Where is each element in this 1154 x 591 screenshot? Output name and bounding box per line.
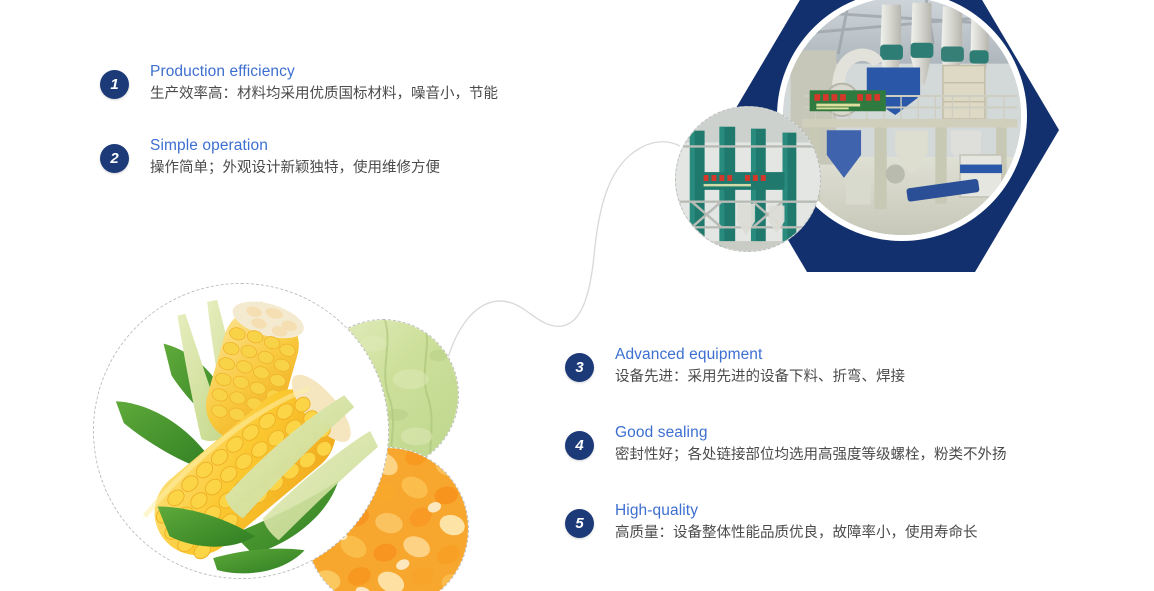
feature-badge-5: 5 [565, 509, 594, 538]
feature-list-top: 1 Production efficiency 生产效率高：材料均采用优质国标材… [100, 62, 620, 210]
feature-item-4[interactable]: 4 Good sealing 密封性好；各处链接部位均选用高强度等级螺栓，粉类不… [565, 423, 1125, 469]
feature-text-1: Production efficiency 生产效率高：材料均采用优质国标材料，… [150, 62, 498, 105]
feature-title-cn-5: 高质量：设备整体性能品质优良，故障率小，使用寿命长 [615, 523, 978, 544]
feature-title-en-3: Advanced equipment [615, 345, 905, 365]
feature-title-en-2: Simple operation [150, 136, 440, 156]
feature-badge-4: 4 [565, 431, 594, 460]
feature-title-cn-1: 生产效率高：材料均采用优质国标材料，噪音小，节能 [150, 84, 498, 105]
feature-highlight-banner: 1 Production efficiency 生产效率高：材料均采用优质国标材… [0, 0, 1154, 591]
feature-list-bottom: 3 Advanced equipment 设备先进：采用先进的设备下料、折弯、焊… [565, 345, 1125, 579]
fresh-corn-cob-illustration [94, 284, 388, 578]
fresh-corn-cob-photo [93, 283, 389, 579]
feature-badge-1: 1 [100, 70, 129, 99]
feature-title-en-4: Good sealing [615, 423, 1007, 443]
feature-text-5: High-quality 高质量：设备整体性能品质优良，故障率小，使用寿命长 [615, 501, 978, 544]
corn-processing-line-photo [675, 106, 821, 252]
feature-title-en-5: High-quality [615, 501, 978, 521]
feature-text-4: Good sealing 密封性好；各处链接部位均选用高强度等级螺栓，粉类不外扬 [615, 423, 1007, 466]
feature-title-cn-3: 设备先进：采用先进的设备下料、折弯、焊接 [615, 367, 905, 388]
feature-text-3: Advanced equipment 设备先进：采用先进的设备下料、折弯、焊接 [615, 345, 905, 388]
corn-photo-cluster [93, 283, 493, 591]
feature-item-5[interactable]: 5 High-quality 高质量：设备整体性能品质优良，故障率小，使用寿命长 [565, 501, 1125, 547]
corn-processing-line-illustration [676, 107, 820, 251]
feature-item-2[interactable]: 2 Simple operation 操作简单；外观设计新颖独特，使用维修方便 [100, 136, 620, 182]
feature-title-cn-4: 密封性好；各处链接部位均选用高强度等级螺栓，粉类不外扬 [615, 445, 1007, 466]
feature-item-3[interactable]: 3 Advanced equipment 设备先进：采用先进的设备下料、折弯、焊… [565, 345, 1125, 391]
feature-badge-3: 3 [565, 353, 594, 382]
feature-title-en-1: Production efficiency [150, 62, 498, 82]
feature-badge-2: 2 [100, 144, 129, 173]
plant-photo-cluster [660, 0, 1154, 288]
feature-item-1[interactable]: 1 Production efficiency 生产效率高：材料均采用优质国标材… [100, 62, 620, 108]
feature-text-2: Simple operation 操作简单；外观设计新颖独特，使用维修方便 [150, 136, 440, 179]
feature-title-cn-2: 操作简单；外观设计新颖独特，使用维修方便 [150, 158, 440, 179]
